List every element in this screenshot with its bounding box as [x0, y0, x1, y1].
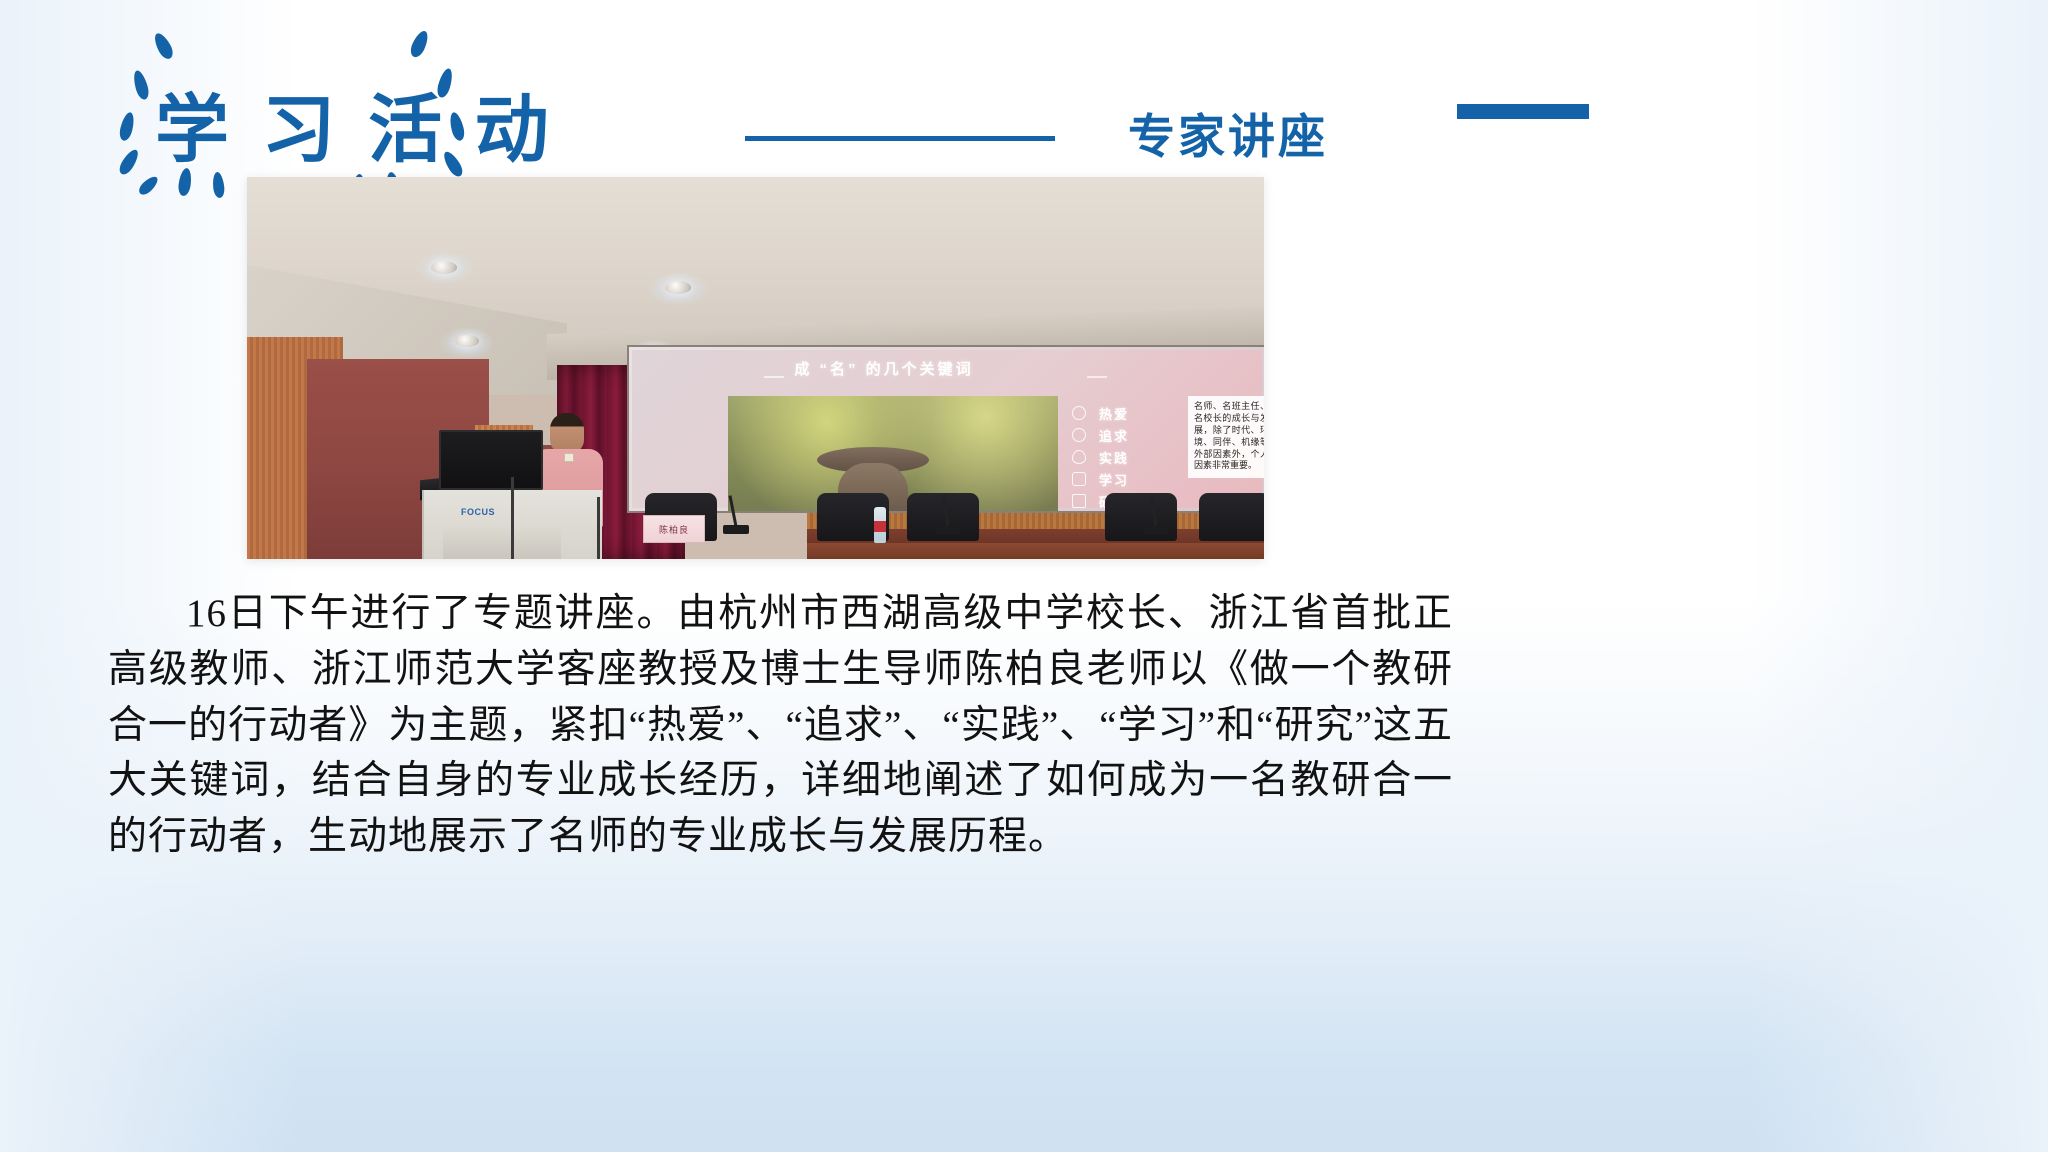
- podium-brand-label: FOCUS: [461, 507, 495, 517]
- presentation-slide: 成 “名” 的几个关键词 热爱 追求 实践: [632, 350, 1262, 508]
- title-laurel-badge: 学 习 活 动: [95, 22, 615, 197]
- slide-keyword-label: 追求: [1099, 426, 1129, 445]
- photo-scene: 成 “名” 的几个关键词 热爱 追求 实践: [247, 177, 1264, 559]
- microphone-base: [723, 525, 749, 534]
- presenter-badge: [564, 453, 574, 462]
- ceiling-downlight-icon: [431, 261, 457, 274]
- body-paragraph: 16日下午进行了专题讲座。由杭州市西湖高级中学校长、浙江省首批正高级教师、浙江师…: [108, 586, 1453, 865]
- wave-icon: [1072, 494, 1086, 508]
- microphone-base: [1143, 525, 1169, 534]
- slide-title-rule-left: [763, 376, 784, 378]
- list-item: 追求: [1072, 424, 1182, 446]
- header-accent-dash: [1457, 104, 1589, 119]
- laurel-leaf-icon: [118, 111, 137, 142]
- podium-monitor: [439, 430, 543, 490]
- list-item: 实践: [1072, 446, 1182, 468]
- heart-icon: [1072, 450, 1086, 464]
- slide-background-photo: [728, 396, 1058, 512]
- cable: [597, 497, 600, 559]
- search-icon: [1072, 428, 1086, 442]
- name-card: 陈柏良: [643, 515, 705, 543]
- slide-keyword-label: 学习: [1099, 470, 1129, 489]
- slide-keyword-label: 实践: [1099, 448, 1129, 467]
- ceiling-downlight-icon: [665, 281, 691, 294]
- slide-title-rule-right: [1086, 376, 1107, 378]
- list-item: 热爱: [1072, 402, 1182, 424]
- page-header: 学 习 活 动 专家讲座: [0, 0, 2048, 200]
- header-subtitle: 专家讲座: [1128, 98, 1328, 167]
- name-card-label: 陈柏良: [659, 523, 689, 536]
- paragraph-text: 16日下午进行了专题讲座。由杭州市西湖高级中学校长、浙江省首批正高级教师、浙江师…: [108, 592, 1453, 858]
- laurel-leaf-icon: [136, 174, 160, 198]
- water-bottle-label: [874, 521, 886, 532]
- conference-table-front: [807, 543, 1264, 559]
- header-divider: [745, 136, 1055, 141]
- page-title: 学 习 活 动: [155, 70, 555, 177]
- slide-note-textbox: 名师、名班主任、名校长的成长与发展，除了时代、环境、同伴、机缘等外部因素外，个人…: [1188, 396, 1264, 478]
- lecture-photo: 成 “名” 的几个关键词 热爱 追求 实践: [247, 177, 1264, 559]
- slide-title: 成 “名” 的几个关键词: [794, 358, 973, 379]
- slide-keyword-label: 热爱: [1099, 404, 1129, 423]
- microphone-base: [935, 525, 961, 534]
- gear-icon: [1072, 406, 1086, 420]
- ceiling-downlight-icon: [455, 335, 479, 347]
- share-icon: [1072, 472, 1086, 486]
- cable: [511, 477, 514, 559]
- laurel-leaf-icon: [408, 29, 431, 60]
- laurel-leaf-icon: [151, 31, 176, 62]
- podium-base: [443, 527, 561, 559]
- projection-screen: 成 “名” 的几个关键词 热爱 追求 实践: [627, 345, 1264, 513]
- list-item: 学习: [1072, 468, 1182, 490]
- chair: [1199, 493, 1264, 541]
- laurel-leaf-icon: [116, 147, 141, 177]
- laurel-leaf-icon: [131, 69, 151, 101]
- presenter-head: [550, 413, 584, 453]
